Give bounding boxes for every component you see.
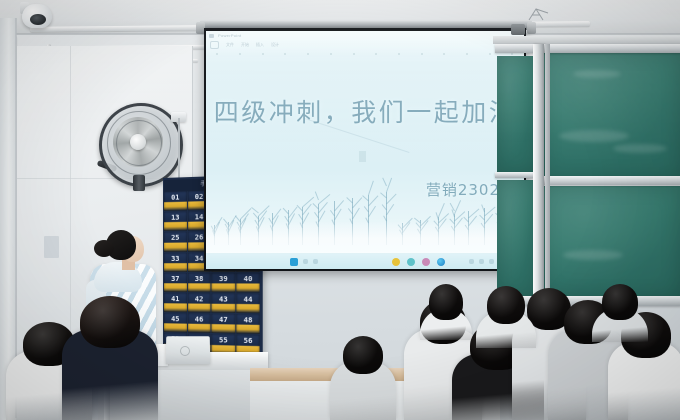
chalkboard-panel-left-upper[interactable] [497, 56, 535, 174]
wall-mounted-fan[interactable] [99, 103, 177, 181]
projected-slide[interactable]: PowerPoint 文件 开始 插入 设计 四级冲刺，我们一起加油 营销230… [206, 31, 524, 269]
powerpoint-ruler [206, 51, 524, 57]
ruler-tick [262, 53, 264, 55]
powerpoint-chrome: PowerPoint 文件 开始 插入 设计 [206, 31, 524, 57]
chalkboard-panel-left-lower[interactable] [497, 180, 535, 298]
audience-student [62, 296, 158, 420]
pocket-33[interactable]: 33 [164, 252, 187, 271]
laptop-logo-icon [180, 346, 190, 356]
presenter-hair-bun [94, 240, 114, 257]
fan-neck [133, 175, 145, 191]
ribbon-tab-1[interactable]: 开始 [241, 42, 249, 48]
chalkboard-top-frame [493, 36, 680, 44]
pocket-25[interactable]: 25 [164, 232, 187, 252]
chalk-smudge-3 [573, 70, 621, 78]
ruler-tick [330, 53, 332, 55]
ribbon-tab-2[interactable]: 插入 [256, 42, 264, 48]
screen-mount-bracket [511, 24, 525, 35]
ruler-tick [353, 53, 355, 55]
pocket-37[interactable]: 37 [164, 273, 187, 292]
ruler-tick [307, 53, 309, 55]
taskview-icon[interactable] [313, 259, 318, 264]
audience-student [592, 284, 648, 342]
ruler-tick [284, 53, 286, 55]
student-head [429, 284, 463, 320]
pocket-13[interactable]: 13 [164, 212, 187, 232]
folder-icon[interactable] [392, 258, 400, 266]
slide-background-snow [206, 221, 524, 253]
student-head [343, 336, 383, 374]
ruler-tick [489, 53, 491, 55]
tray-icon-2[interactable] [479, 259, 484, 264]
wall-notice [44, 236, 59, 258]
chalkboard-vertical-rail [533, 44, 544, 300]
pocket-43[interactable]: 43 [212, 293, 235, 313]
fan-hub [130, 134, 146, 150]
tray-icon-3[interactable] [489, 259, 494, 264]
ruler-tick [421, 53, 423, 55]
camera-lens-icon [30, 14, 46, 25]
slide-title: 四级冲刺，我们一起加油 [206, 93, 524, 129]
chalk-smudge-4 [563, 250, 623, 260]
pocket-47[interactable]: 47 [212, 314, 235, 334]
powerpoint-titlebar: PowerPoint [209, 32, 524, 39]
pocket-46[interactable]: 46 [188, 313, 211, 333]
chalkboard-assembly [497, 30, 680, 302]
pocket-45[interactable]: 45 [164, 313, 187, 333]
pocket-01[interactable]: 01 [164, 191, 187, 211]
student-head [602, 284, 638, 320]
search-icon[interactable] [303, 259, 308, 264]
chalkboard-rail-top [495, 44, 680, 53]
chalkboard-panel-main-lower[interactable] [543, 186, 680, 298]
app-icon[interactable] [422, 258, 430, 266]
window-icon [209, 34, 214, 38]
ruler-tick [375, 53, 377, 55]
audience-student [330, 336, 396, 420]
ribbon-icon-1[interactable] [210, 41, 219, 49]
start-icon[interactable] [290, 258, 298, 266]
ribbon-tab-0[interactable]: 文件 [226, 42, 234, 48]
ruler-tick [239, 53, 241, 55]
audience-student [420, 284, 472, 340]
pocket-42[interactable]: 42 [188, 293, 211, 313]
windows-taskbar[interactable]: 14:21 [206, 254, 524, 269]
taskbar-left-group[interactable] [290, 258, 318, 266]
powerpoint-title: PowerPoint [218, 33, 241, 38]
powerpoint-ribbon[interactable]: 文件 开始 插入 设计 [210, 40, 522, 49]
chalk-smudge [559, 130, 629, 142]
taskbar-pinned-group[interactable] [392, 258, 445, 266]
chalkboard-panel-main-upper[interactable] [543, 52, 680, 178]
ribbon-tab-3[interactable]: 设计 [271, 42, 279, 48]
ruler-tick [466, 53, 468, 55]
ruler-tick [216, 53, 218, 55]
pocket-41[interactable]: 41 [164, 293, 187, 312]
slide-watermark [359, 151, 366, 162]
ceiling-wire-icon [528, 8, 550, 22]
pocket-44[interactable]: 44 [236, 293, 260, 313]
chalkboard-rail-middle [541, 176, 680, 185]
student-head [80, 296, 140, 348]
pocket-48[interactable]: 48 [236, 314, 260, 334]
student-head [487, 286, 525, 324]
pocket-40[interactable]: 40 [236, 273, 260, 293]
chalk-smudge-2 [613, 144, 667, 153]
ruler-tick [443, 53, 445, 55]
wechat-icon[interactable] [407, 258, 415, 266]
edge-icon[interactable] [437, 258, 445, 266]
audience-student [476, 286, 536, 348]
ruler-tick [398, 53, 400, 55]
tray-icon-1[interactable] [469, 259, 474, 264]
classroom-scene: 手机袋 010207081314192025263132333435363738… [0, 0, 680, 420]
pocket-38[interactable]: 38 [188, 273, 211, 293]
pocket-39[interactable]: 39 [212, 273, 235, 293]
chalkboard-vertical-rail-2 [545, 44, 550, 300]
chalkboard-rail-middle-left [495, 172, 537, 178]
